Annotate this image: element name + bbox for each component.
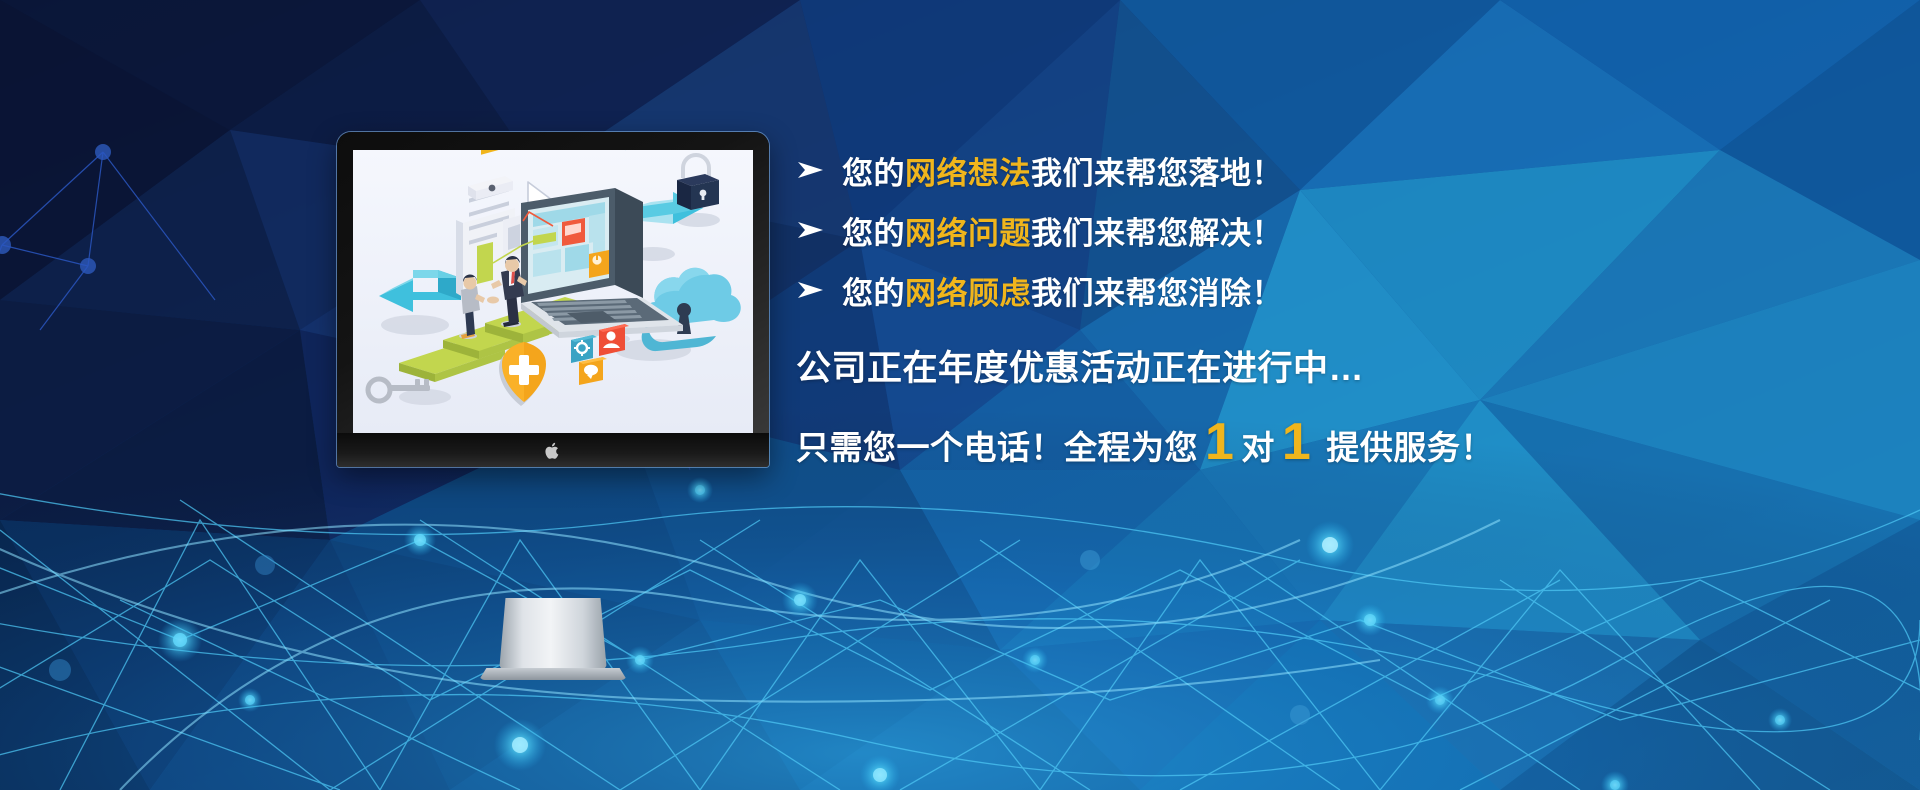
promo-line-1: 公司正在年度优惠活动正在进行中…	[796, 340, 1836, 391]
bullet-item-3: 您的网络顾虑我们来帮您消除！	[796, 260, 1836, 320]
bullet-prefix-1: 您的	[842, 156, 905, 191]
arrow-bullet-icon	[796, 160, 842, 180]
promo-line2-part1: 只需您一个电话！全程为您	[796, 421, 1198, 469]
bullet-suffix-3: 我们来帮您消除！	[1031, 276, 1283, 311]
bullet-highlight-1: 网络想法	[905, 156, 1031, 191]
bullet-suffix-2: 我们来帮您解决！	[1031, 216, 1283, 251]
monitor-stand-base	[479, 668, 627, 680]
desktop-monitor-illustration	[337, 132, 769, 467]
bullet-prefix-3: 您的	[842, 276, 905, 311]
arrow-bullet-icon	[796, 220, 842, 240]
promo-line2-mid: 对	[1241, 421, 1275, 469]
dashboard-screen	[533, 202, 609, 278]
monitor-screen	[353, 150, 753, 433]
promo-line2-part2: 提供服务！	[1326, 421, 1494, 469]
promo-banner: 您的网络想法我们来帮您落地！ 您的网络问题我们来帮您解决！ 您的网络顾虑我们来帮…	[0, 0, 1920, 790]
promo-number-first: 1	[1198, 419, 1241, 466]
promo-number-second: 1	[1275, 419, 1318, 466]
bullet-text-3: 您的网络顾虑我们来帮您消除！	[842, 268, 1283, 313]
isometric-security-scene	[353, 150, 753, 433]
bullet-suffix-1: 我们来帮您落地！	[1031, 156, 1283, 191]
bullet-highlight-2: 网络问题	[905, 216, 1031, 251]
arrow-bullet-icon	[796, 280, 842, 300]
bullet-item-1: 您的网络想法我们来帮您落地！	[796, 140, 1836, 200]
bullet-item-2: 您的网络问题我们来帮您解决！	[796, 200, 1836, 260]
apple-logo-icon	[545, 442, 561, 460]
promo-line-2: 只需您一个电话！全程为您 1 对 1 提供服务！	[796, 419, 1836, 469]
bullet-prefix-2: 您的	[842, 216, 905, 251]
marketing-copy-block: 您的网络想法我们来帮您落地！ 您的网络问题我们来帮您解决！ 您的网络顾虑我们来帮…	[796, 140, 1836, 469]
bullet-text-2: 您的网络问题我们来帮您解决！	[842, 208, 1283, 253]
bullet-highlight-3: 网络顾虑	[905, 276, 1031, 311]
monitor-stand-neck	[499, 598, 607, 672]
bullet-text-1: 您的网络想法我们来帮您落地！	[842, 148, 1283, 193]
